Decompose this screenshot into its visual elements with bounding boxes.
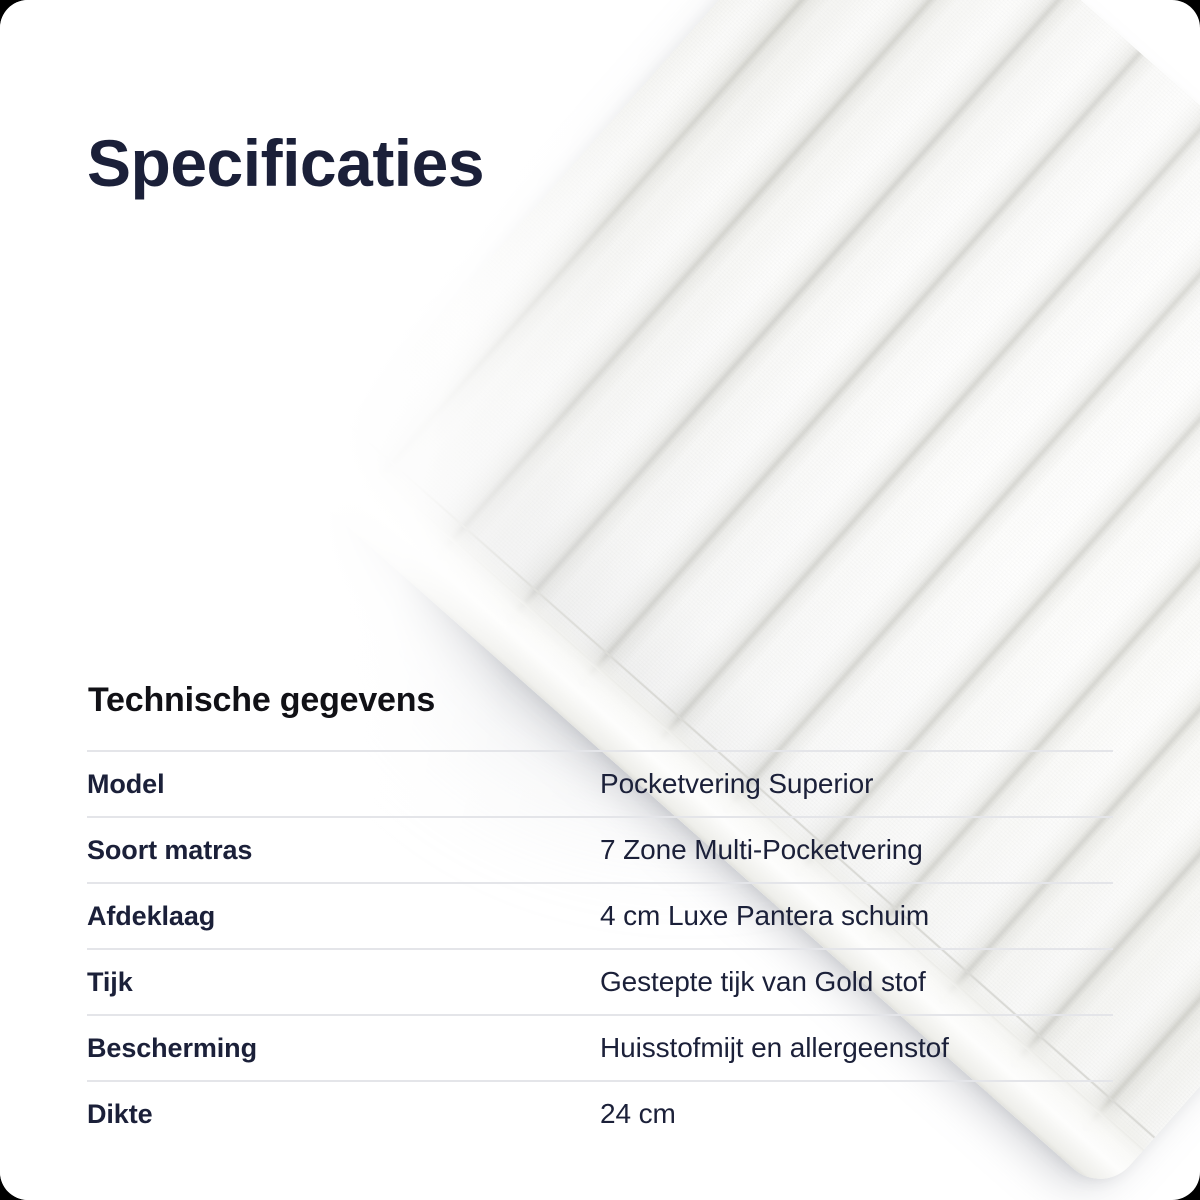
specifications-card: Specificaties Technische gegevens Model … xyxy=(0,0,1200,1200)
spec-value: Huisstofmijt en allergeenstof xyxy=(600,1032,1113,1064)
spec-value: 4 cm Luxe Pantera schuim xyxy=(600,900,1113,932)
specifications-table: Model Pocketvering Superior Soort matras… xyxy=(87,750,1113,1146)
spec-value: Gestepte tijk van Gold stof xyxy=(600,966,1113,998)
page-title: Specificaties xyxy=(87,130,484,196)
spec-label: Model xyxy=(87,769,600,800)
card-content: Specificaties Technische gegevens Model … xyxy=(0,0,1200,1200)
spec-label: Bescherming xyxy=(87,1033,600,1064)
spec-label: Soort matras xyxy=(87,835,600,866)
spec-value: 7 Zone Multi-Pocketvering xyxy=(600,834,1113,866)
table-row: Bescherming Huisstofmijt en allergeensto… xyxy=(87,1014,1113,1080)
spec-label: Dikte xyxy=(87,1099,600,1130)
table-row: Afdeklaag 4 cm Luxe Pantera schuim xyxy=(87,882,1113,948)
table-row: Dikte 24 cm xyxy=(87,1080,1113,1146)
table-row: Soort matras 7 Zone Multi-Pocketvering xyxy=(87,816,1113,882)
spec-label: Tijk xyxy=(87,967,600,998)
table-row: Tijk Gestepte tijk van Gold stof xyxy=(87,948,1113,1014)
section-heading-technical-data: Technische gegevens xyxy=(88,683,435,717)
spec-value: Pocketvering Superior xyxy=(600,768,1113,800)
spec-label: Afdeklaag xyxy=(87,901,600,932)
spec-value: 24 cm xyxy=(600,1098,1113,1130)
table-row: Model Pocketvering Superior xyxy=(87,750,1113,816)
